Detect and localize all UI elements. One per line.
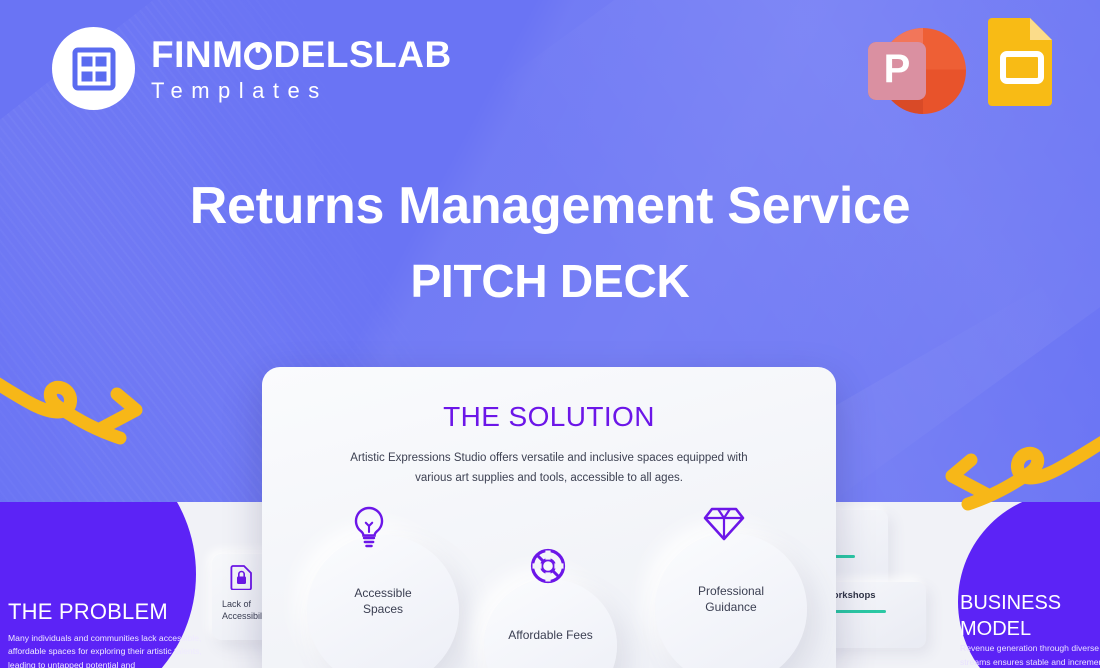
google-slides-icon[interactable] xyxy=(986,14,1058,109)
powerpoint-icon[interactable]: P xyxy=(860,14,970,114)
business-title-line2: MODEL xyxy=(960,618,1031,640)
solution-description: Artistic Expressions Studio offers versa… xyxy=(340,449,758,489)
lightbulb-icon xyxy=(348,505,390,554)
solution-feature-3-line2: Guidance xyxy=(705,600,756,614)
solution-feature-1-line2: Spaces xyxy=(363,602,403,616)
document-lock-icon xyxy=(230,564,252,595)
solution-feature-3-label: Professional Guidance xyxy=(698,583,764,615)
power-o-icon xyxy=(243,40,273,70)
hero-title-block: Returns Management Service PITCH DECK xyxy=(0,178,1100,308)
solution-feature-1-line1: Accessible xyxy=(354,586,411,600)
slide-preview-problem[interactable]: Lack of Accessibility THE PROBLEM Many i… xyxy=(0,502,264,668)
workshops-accent-bar-1 xyxy=(836,555,855,558)
brand-wordmark: FINM DELSLAB Templates xyxy=(151,36,452,102)
brand-name-part1: FINM xyxy=(151,36,243,73)
solution-feature-3: Professional Guidance xyxy=(655,533,807,668)
powerpoint-letter-tile: P xyxy=(868,42,926,100)
problem-title: THE PROBLEM xyxy=(8,599,168,625)
format-badges: P xyxy=(860,14,1058,114)
page-subtitle: PITCH DECK xyxy=(0,254,1100,308)
grid-logo-icon xyxy=(52,27,135,110)
problem-mini-card-caption: Lack of Accessibility xyxy=(222,598,264,622)
business-title: BUSINESS MODEL xyxy=(960,590,1061,642)
brand-logo[interactable]: FINM DELSLAB Templates xyxy=(52,27,452,110)
workshops-caption: Workshops xyxy=(836,590,876,601)
solution-feature-2-label: Affordable Fees xyxy=(508,627,593,643)
squiggle-arrow-right-icon xyxy=(0,352,168,467)
problem-mini-card: Lack of Accessibility xyxy=(212,554,264,640)
brand-name: FINM DELSLAB xyxy=(151,36,452,73)
solution-feature-3-line1: Professional xyxy=(698,584,764,598)
squiggle-arrow-left-icon xyxy=(930,418,1100,533)
problem-body: Many individuals and communities lack ac… xyxy=(8,632,218,668)
brand-tagline: Templates xyxy=(151,80,452,102)
diamond-icon xyxy=(703,505,745,548)
solution-feature-2: Affordable Fees xyxy=(484,579,617,668)
solution-feature-1: Accessible Spaces xyxy=(307,535,459,668)
workshops-accent-bar-2 xyxy=(836,610,886,613)
page-title: Returns Management Service xyxy=(0,178,1100,234)
lifebuoy-icon xyxy=(528,546,568,591)
brand-name-part2: DELSLAB xyxy=(273,36,451,73)
solution-feature-1-label: Accessible Spaces xyxy=(354,585,411,617)
solution-title: THE SOLUTION xyxy=(262,401,836,433)
powerpoint-letter: P xyxy=(884,49,911,89)
business-body: Revenue generation through diverse strea… xyxy=(960,642,1100,668)
business-title-line1: BUSINESS xyxy=(960,592,1061,614)
